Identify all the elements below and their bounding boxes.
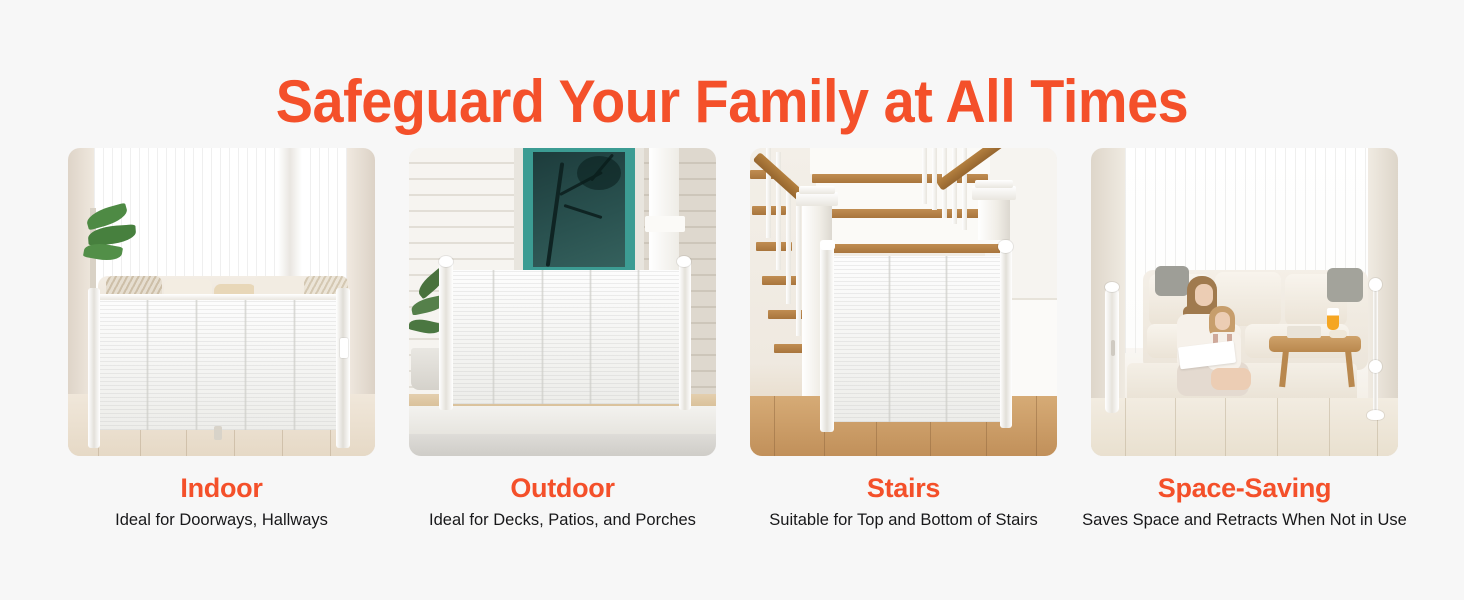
juice-glass — [1327, 308, 1339, 330]
feature-card-outdoor[interactable]: Outdoor Ideal for Decks, Patios, and Por… — [409, 148, 716, 548]
stairs-card-subtitle: Suitable for Top and Bottom of Stairs — [769, 510, 1037, 530]
outdoor-gate-latch-post — [679, 260, 691, 410]
feature-card-indoor[interactable]: Indoor Ideal for Doorways, Hallways — [68, 148, 375, 548]
feature-card-space-saving[interactable]: Space-Saving Saves Space and Retracts Wh… — [1091, 148, 1398, 548]
stairs-scene-image — [750, 148, 1057, 456]
table-books — [1287, 326, 1321, 338]
outdoor-gate-top-bracket — [677, 256, 691, 267]
living-room-accent-pillow — [1155, 266, 1189, 296]
stairs-gate-latch-post — [1000, 246, 1012, 428]
table-bowl — [1329, 330, 1347, 338]
outdoor-door-glass — [533, 152, 625, 267]
stairs-gate-top-bracket — [998, 240, 1013, 253]
outdoor-ground — [409, 434, 716, 456]
child-legs — [1211, 368, 1251, 390]
child-face — [1215, 312, 1230, 330]
outdoor-card-subtitle: Ideal for Decks, Patios, and Porches — [429, 510, 696, 530]
space-saving-scene-image — [1091, 148, 1398, 456]
indoor-gate-latch-post — [336, 288, 350, 448]
outdoor-gate-top-bracket — [439, 256, 453, 267]
gate-pole-top-knob — [1369, 278, 1382, 291]
indoor-card-subtitle: Ideal for Doorways, Hallways — [115, 510, 328, 530]
space-saving-card-subtitle: Saves Space and Retracts When Not in Use — [1082, 510, 1407, 530]
indoor-gate-housing-post — [88, 288, 100, 448]
outdoor-gate-housing-post — [439, 260, 453, 410]
outdoor-card-title: Outdoor — [510, 472, 614, 504]
outdoor-column-cap — [645, 216, 685, 232]
coffee-table — [1269, 336, 1361, 352]
indoor-scene-image — [68, 148, 375, 456]
promo-banner: Safeguard Your Family at All Times — [0, 0, 1464, 600]
gate-pole-latch-knob — [1369, 360, 1382, 373]
living-room-floor — [1091, 398, 1398, 456]
feature-card-stairs[interactable]: Stairs Suitable for Top and Bottom of St… — [750, 148, 1057, 548]
space-saving-card-title: Space-Saving — [1158, 472, 1331, 504]
indoor-card-title: Indoor — [180, 472, 262, 504]
indoor-gate-top-rail — [96, 294, 344, 300]
indoor-gate-latch — [340, 338, 348, 358]
mother-face — [1195, 284, 1213, 306]
page-title: Safeguard Your Family at All Times — [51, 68, 1413, 136]
living-room-accent-pillow — [1327, 268, 1363, 302]
outdoor-scene-image — [409, 148, 716, 456]
stairs-gate-housing-post — [820, 246, 834, 432]
indoor-gate-floor-bracket — [214, 426, 222, 440]
indoor-retractable-gate — [98, 298, 342, 430]
stairs-gate-housing-cap — [820, 240, 835, 250]
outdoor-retractable-gate — [444, 270, 686, 404]
gate-pole-base — [1367, 410, 1384, 420]
gate-housing-handle — [1111, 340, 1115, 356]
feature-card-grid: Indoor Ideal for Doorways, Hallways — [68, 148, 1398, 548]
stairs-card-title: Stairs — [867, 472, 940, 504]
gate-mounting-pole — [1373, 286, 1378, 418]
outdoor-porch-base — [409, 406, 716, 436]
stairs-retractable-gate — [832, 256, 1004, 422]
gate-housing-top-cap — [1105, 282, 1119, 292]
